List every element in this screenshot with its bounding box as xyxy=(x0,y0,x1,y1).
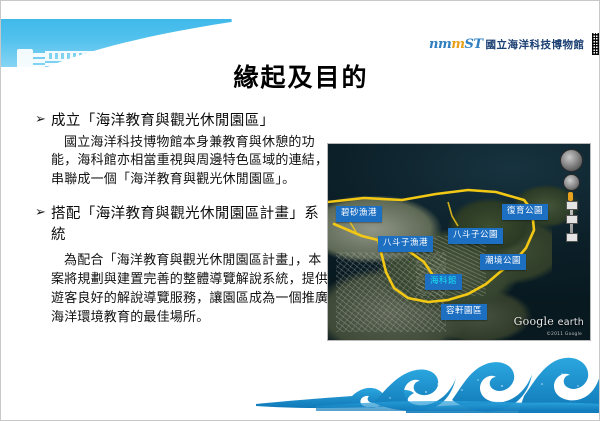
logo-wordmark-part2: m xyxy=(451,37,464,52)
google-watermark-text: Google xyxy=(514,315,554,328)
google-earth-nav-controls[interactable] xyxy=(557,149,585,241)
earth-watermark-text: earth xyxy=(558,317,584,328)
map-label-marine-science-museum[interactable]: 海科館 xyxy=(425,274,462,290)
zoom-slider-handle[interactable] xyxy=(566,215,578,224)
map-attribution-credit: ©2011 Google xyxy=(546,332,582,337)
google-earth-watermark: Google earth xyxy=(514,315,584,328)
logo-chinese-name: 國立海洋科技博物館 xyxy=(486,37,585,52)
bullet-arrow-icon: ➢ xyxy=(35,111,51,130)
map-label-bisha-fishing-port[interactable]: 碧砂漁港 xyxy=(336,206,382,222)
content-column: ➢ 成立「海洋教育與觀光休閒園區」 國立海洋科技博物館本身兼教育與休憩的功能，海… xyxy=(35,111,331,334)
wave-decoration xyxy=(256,356,600,418)
bullet-heading-text-2: 搭配「海洋教育與觀光休閒園區計畫」系統 xyxy=(51,204,331,245)
bullet-heading-1: ➢ 成立「海洋教育與觀光休閒園區」 xyxy=(35,111,331,132)
bullet-paragraph-2: 為配合「海洋教育與觀光休閒園區計畫」，本案將規劃與建置完善的整體導覽解說系統，提… xyxy=(35,252,331,327)
logo-wordmark-part1: nm xyxy=(429,37,451,52)
qr-code xyxy=(591,32,600,56)
logo-wordmark-part3: ST xyxy=(464,37,482,52)
compass-icon[interactable] xyxy=(560,149,583,172)
bullet-heading-2: ➢ 搭配「海洋教育與觀光休閒園區計畫」系統 xyxy=(35,204,331,245)
map-label-badouzi-park[interactable]: 八斗子公園 xyxy=(448,228,503,244)
zoom-in-handle[interactable] xyxy=(566,201,578,210)
street-view-pegman-icon[interactable] xyxy=(568,192,573,201)
logo-wordmark: nmmST xyxy=(429,38,483,51)
map-label-rongxuan-park[interactable]: 容軒園區 xyxy=(441,304,487,320)
museum-logo: nmmST 國立海洋科技博物館 xyxy=(429,34,600,54)
zoom-out-handle[interactable] xyxy=(566,233,578,242)
bullet-paragraph-1: 國立海洋科技博物館本身兼教育與休憩的功能，海科館亦相當重視與周邊特色區域的連結，… xyxy=(35,134,331,191)
bullet-block-2: ➢ 搭配「海洋教育與觀光休閒園區計畫」系統 為配合「海洋教育與觀光休閒園區計畫」… xyxy=(35,204,331,328)
map-label-fuyu-park[interactable]: 復育公園 xyxy=(502,204,548,220)
page-title: 緣起及目的 xyxy=(1,58,600,94)
bullet-arrow-icon: ➢ xyxy=(35,204,51,223)
bullet-block-1: ➢ 成立「海洋教育與觀光休閒園區」 國立海洋科技博物館本身兼教育與休憩的功能，海… xyxy=(35,111,331,190)
slide-canvas: nmmST 國立海洋科技博物館 緣起及目的 ➢ 成立「海洋教育與觀光休閒園區」 … xyxy=(0,0,600,421)
map-label-badouzi-fishing-port[interactable]: 八斗子漁港 xyxy=(378,236,433,252)
map-label-chaojing-park[interactable]: 潮境公園 xyxy=(480,254,526,270)
pan-hand-icon[interactable] xyxy=(563,174,580,191)
bullet-heading-text-1: 成立「海洋教育與觀光休閒園區」 xyxy=(51,111,331,132)
satellite-map-image: 碧砂漁港 八斗子漁港 八斗子公園 復育公園 潮境公園 海科館 容軒園區 Goog… xyxy=(328,144,590,340)
